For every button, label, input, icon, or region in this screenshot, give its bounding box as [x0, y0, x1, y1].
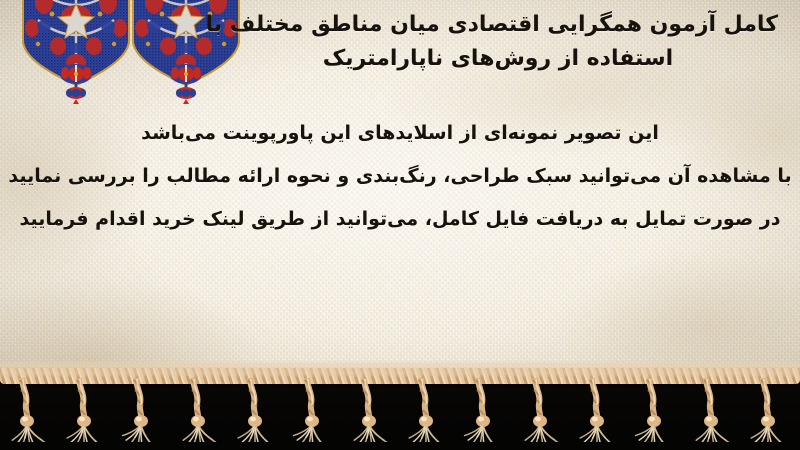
fringe-tassel — [120, 378, 160, 442]
fringe-tassel — [576, 378, 616, 442]
fringe-tassel — [6, 378, 46, 442]
slide-title: کامل آزمون همگرایی اقتصادی میان مناطق مخ… — [218, 8, 778, 76]
fringe-tassel — [747, 378, 787, 442]
fringe-tassel — [291, 378, 331, 442]
fringe-tassel — [690, 378, 730, 442]
carpet-tassel-fringe — [0, 368, 800, 450]
fringe-tassel — [405, 378, 445, 442]
body-line-1: این تصویر نمونه‌ای از اسلایدهای این پاور… — [0, 112, 800, 155]
slide-body: این تصویر نمونه‌ای از اسلایدهای این پاور… — [0, 112, 800, 241]
fringe-fuzz — [0, 362, 800, 376]
fringe-tassel — [177, 378, 217, 442]
fringe-tassel — [348, 378, 388, 442]
fringe-tassel — [234, 378, 274, 442]
slide-canvas: کامل آزمون همگرایی اقتصادی میان مناطق مخ… — [0, 0, 800, 450]
fringe-tassel — [633, 378, 673, 442]
title-line-2: استفاده از روش‌های ناپارامتریک — [218, 42, 778, 76]
title-line-1: کامل آزمون همگرایی اقتصادی میان مناطق مخ… — [218, 8, 778, 42]
body-line-3: در صورت تمایل به دریافت فایل کامل، می‌تو… — [0, 198, 800, 241]
body-line-2: با مشاهده آن می‌توانید سبک طراحی، رنگ‌بن… — [0, 155, 800, 198]
fringe-tassel — [63, 378, 103, 442]
fringe-tassel — [519, 378, 559, 442]
fringe-tassel — [462, 378, 502, 442]
